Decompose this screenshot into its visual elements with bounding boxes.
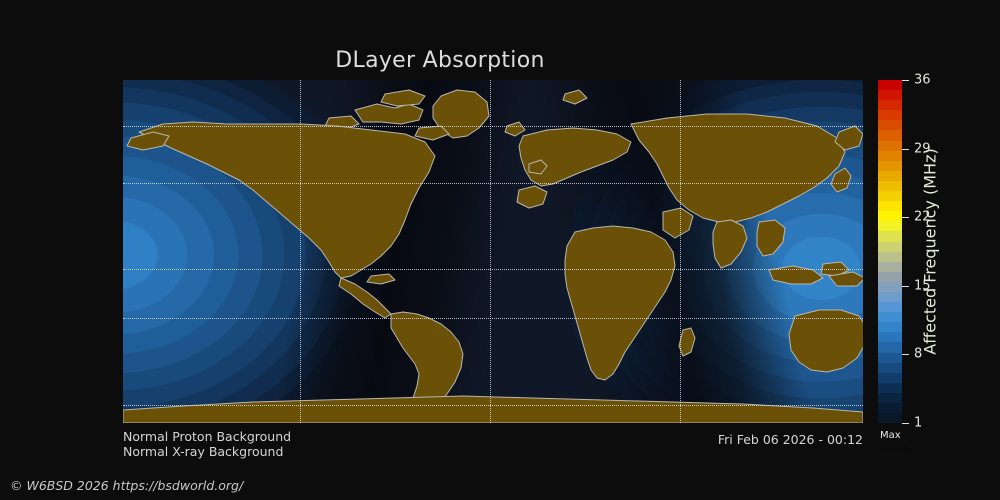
colorbar-band-25 — [878, 332, 902, 342]
max-marker-label: Max — [880, 430, 901, 441]
colorbar-band-31 — [878, 393, 902, 403]
colorbar-band-21 — [878, 292, 902, 302]
colorbar-band-33 — [878, 413, 902, 423]
world-map-plot — [123, 80, 863, 423]
colorbar-band-14 — [878, 221, 902, 231]
colorbar-band-22 — [878, 302, 902, 312]
colorbar-band-27 — [878, 353, 902, 363]
colorbar-gradient — [878, 80, 902, 423]
colorbar-band-4 — [878, 120, 902, 130]
colorbar-band-28 — [878, 363, 902, 373]
figure-canvas: DLayer Absorption — [0, 0, 1000, 500]
continents-layer — [123, 80, 863, 423]
page-title: DLayer Absorption — [0, 48, 880, 73]
colorbar-band-18 — [878, 262, 902, 272]
colorbar-band-11 — [878, 191, 902, 201]
colorbar-band-8 — [878, 161, 902, 171]
colorbar-band-13 — [878, 211, 902, 221]
colorbar-band-32 — [878, 403, 902, 413]
colorbar-band-20 — [878, 282, 902, 292]
timestamp-label: Fri Feb 06 2026 - 00:12 — [0, 432, 863, 447]
colorbar-band-2 — [878, 100, 902, 110]
colorbar-tick-36 — [902, 80, 909, 81]
colorbar-tick-8 — [902, 354, 909, 355]
colorbar-band-6 — [878, 141, 902, 151]
max-absorption-marker: Max — [878, 432, 938, 456]
colorbar-band-15 — [878, 231, 902, 241]
colorbar-band-0 — [878, 80, 902, 90]
colorbar-band-5 — [878, 130, 902, 140]
colorbar-band-24 — [878, 322, 902, 332]
coastline-paths — [123, 80, 863, 423]
colorbar-tick-15 — [902, 286, 909, 287]
colorbar-band-16 — [878, 242, 902, 252]
colorbar-band-9 — [878, 171, 902, 181]
copyright-label: © W6BSD 2026 https://bsdworld.org/ — [10, 478, 243, 493]
colorbar-tick-1 — [902, 423, 909, 424]
colorbar: 36 29 22 15 8 1 Max — [878, 80, 902, 423]
max-arrow-icon — [880, 445, 914, 453]
colorbar-axis-label-text: Affected Frequency (MHz) — [921, 148, 940, 354]
colorbar-band-10 — [878, 181, 902, 191]
colorbar-tick-22 — [902, 217, 909, 218]
colorbar-band-3 — [878, 110, 902, 120]
colorbar-band-17 — [878, 252, 902, 262]
colorbar-band-12 — [878, 201, 902, 211]
colorbar-band-29 — [878, 373, 902, 383]
colorbar-band-1 — [878, 90, 902, 100]
colorbar-band-7 — [878, 151, 902, 161]
colorbar-tick-29 — [902, 149, 909, 150]
colorbar-axis-label: Affected Frequency (MHz) — [917, 80, 943, 423]
colorbar-band-30 — [878, 383, 902, 393]
colorbar-band-19 — [878, 272, 902, 282]
colorbar-band-23 — [878, 312, 902, 322]
colorbar-band-26 — [878, 342, 902, 352]
